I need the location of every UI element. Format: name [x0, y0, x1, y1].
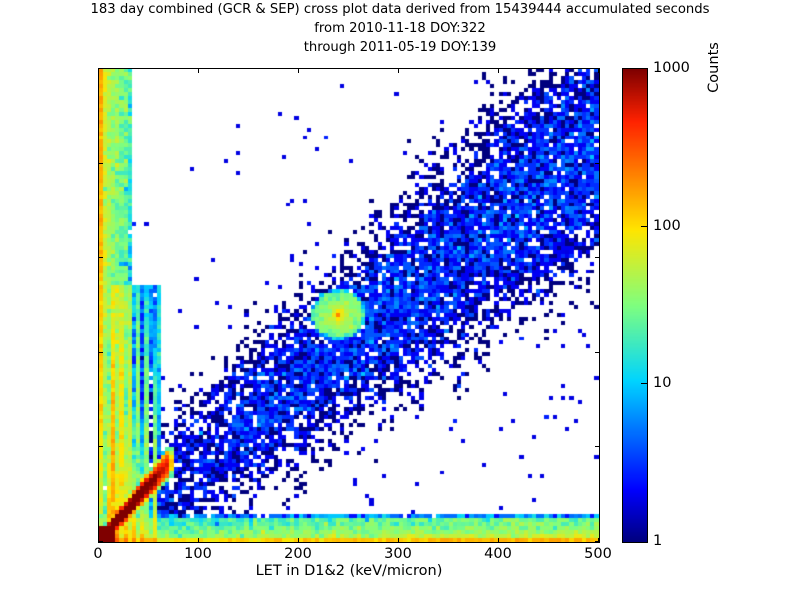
- colorbar-tick-mark-1: [641, 226, 648, 227]
- x-tick-label-2: 200: [284, 546, 312, 562]
- plot-area: [98, 68, 600, 543]
- colorbar-tick-label-2: 10: [653, 375, 671, 391]
- colorbar-tick-label-0: 1000: [653, 60, 690, 76]
- x-tick-label-3: 300: [384, 546, 412, 562]
- colorbar-tick-label-1: 100: [653, 218, 681, 234]
- title-line-3: through 2011-05-19 DOY:139: [0, 38, 800, 57]
- x-tick-label-1: 100: [184, 546, 212, 562]
- density-scatter-canvas: [99, 69, 599, 542]
- x-tick-mark-1: [198, 68, 199, 73]
- colorbar-tick-mark-2: [641, 383, 648, 384]
- colorbar: [622, 68, 648, 543]
- y-tick-mark-2: [98, 352, 103, 353]
- y-tick-mark-1: [595, 446, 600, 447]
- x-tick-mark-0: [98, 538, 99, 543]
- x-tick-mark-0: [98, 68, 99, 73]
- colorbar-gradient: [623, 69, 647, 542]
- x-tick-mark-2: [298, 68, 299, 73]
- figure-title: 183 day combined (GCR & SEP) cross plot …: [0, 0, 800, 57]
- x-tick-label-5: 500: [584, 546, 612, 562]
- x-tick-mark-5: [598, 538, 599, 543]
- x-tick-mark-5: [598, 68, 599, 73]
- colorbar-label: Counts: [706, 0, 722, 305]
- title-line-2: from 2010-11-18 DOY:322: [0, 19, 800, 38]
- x-tick-label-0: 0: [93, 546, 102, 562]
- y-tick-mark-1: [98, 446, 103, 447]
- x-tick-mark-4: [498, 538, 499, 543]
- x-tick-mark-3: [398, 68, 399, 73]
- x-tick-label-4: 400: [484, 546, 512, 562]
- y-tick-mark-4: [98, 163, 103, 164]
- x-tick-mark-1: [198, 538, 199, 543]
- x-tick-mark-2: [298, 538, 299, 543]
- x-tick-mark-3: [398, 538, 399, 543]
- title-line-1: 183 day combined (GCR & SEP) cross plot …: [0, 0, 800, 19]
- cross-plot-figure: 183 day combined (GCR & SEP) cross plot …: [0, 0, 800, 600]
- colorbar-tick-label-3: 1: [653, 533, 662, 549]
- y-tick-mark-3: [595, 257, 600, 258]
- x-axis-label: LET in D1&2 (keV/micron): [98, 563, 600, 579]
- y-tick-mark-4: [595, 163, 600, 164]
- y-tick-mark-3: [98, 257, 103, 258]
- x-tick-mark-4: [498, 68, 499, 73]
- y-tick-mark-2: [595, 352, 600, 353]
